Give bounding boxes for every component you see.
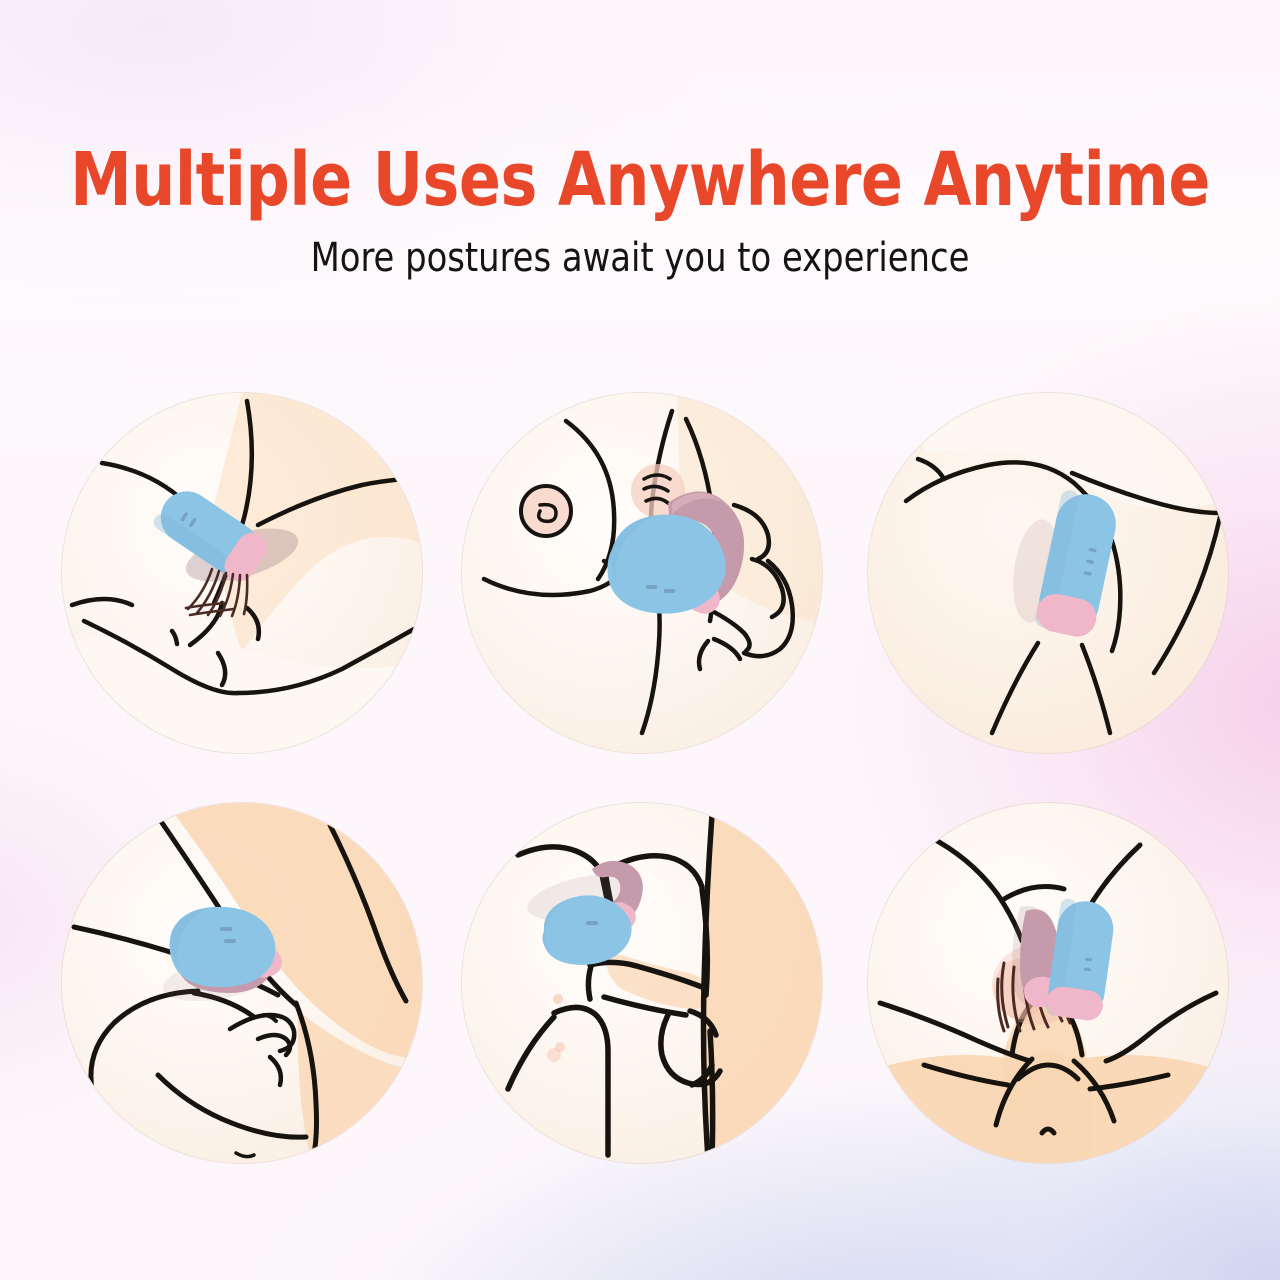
use-case-gallery <box>0 393 1280 1163</box>
gallery-item-use-4[interactable] <box>62 803 422 1163</box>
illustration-standing-couple <box>462 803 822 1163</box>
illustration-circle-4 <box>62 803 422 1163</box>
line-art-nipple-stimulation <box>462 393 822 753</box>
gallery-item-use-1[interactable] <box>62 393 422 753</box>
illustration-circle-1 <box>62 393 422 753</box>
page-subtitle: More postures await you to experience <box>38 219 1241 281</box>
gallery-item-use-5[interactable] <box>462 803 822 1163</box>
line-art-side-lying-wearable <box>62 803 422 1163</box>
page-title: Multiple Uses Anywhere Anytime <box>45 0 1235 219</box>
line-art-front-facing <box>868 803 1228 1163</box>
illustration-circle-2 <box>462 393 822 753</box>
gallery-item-use-6[interactable] <box>868 803 1228 1163</box>
banner-header: Multiple Uses Anywhere Anytime More post… <box>0 0 1280 281</box>
illustration-front-facing-penetration <box>868 803 1228 1163</box>
line-art-rear-entry <box>868 393 1228 753</box>
line-art-standing-couple <box>462 803 822 1163</box>
gallery-item-use-3[interactable] <box>868 393 1228 753</box>
marketing-banner: Multiple Uses Anywhere Anytime More post… <box>0 0 1280 1280</box>
illustration-circle-3 <box>868 393 1228 753</box>
gallery-item-use-2[interactable] <box>462 393 822 753</box>
line-art-lying-down-clitoral <box>62 393 422 753</box>
